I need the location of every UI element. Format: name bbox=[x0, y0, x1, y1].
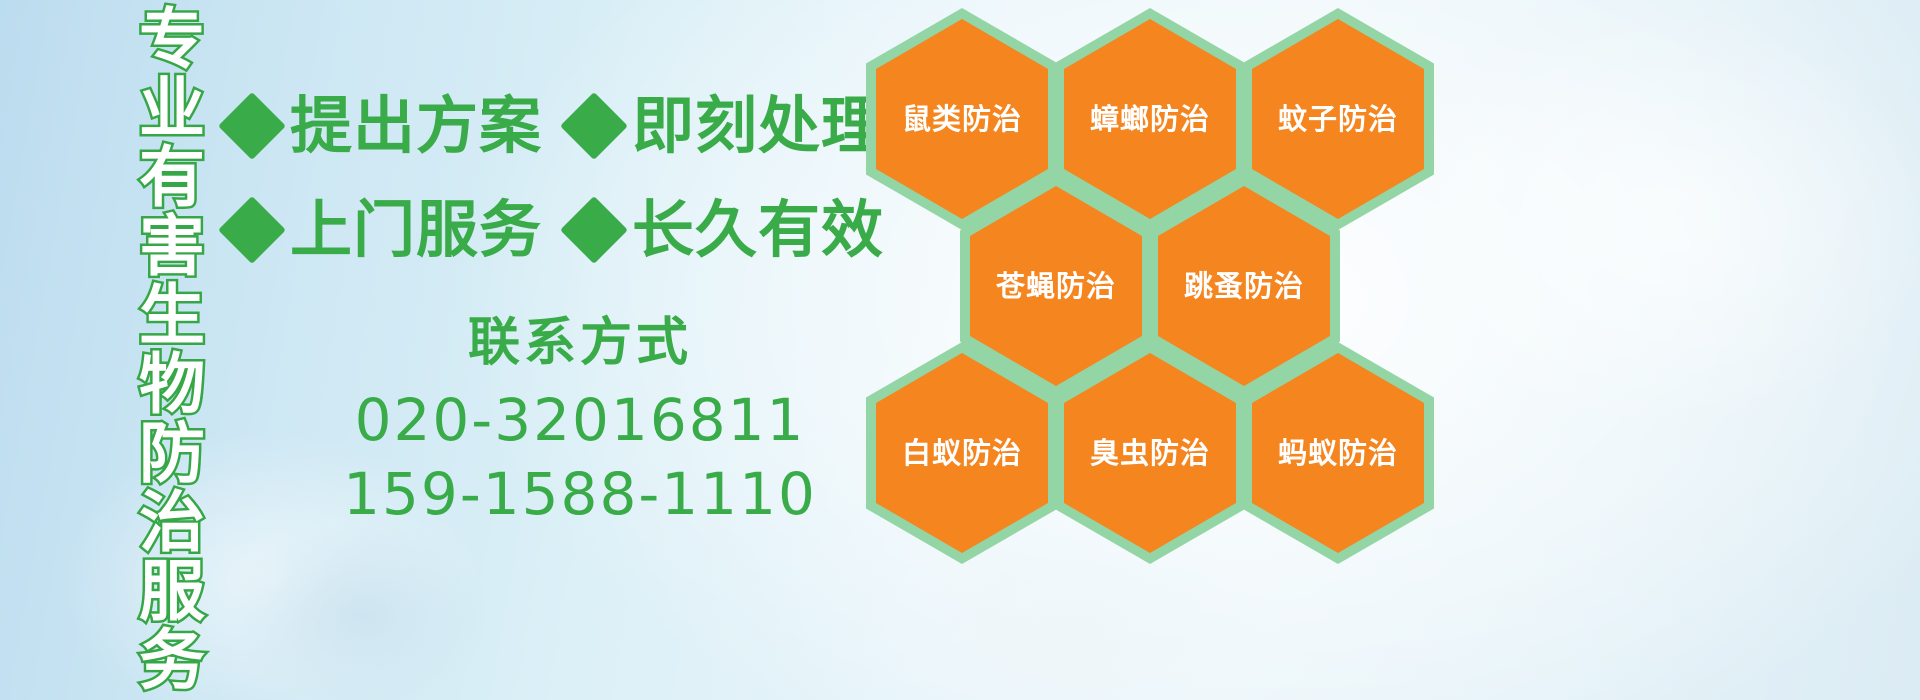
service-label: 苍蝇防治 bbox=[996, 272, 1116, 301]
phone-number-mobile[interactable]: 159-1588-1110 bbox=[300, 457, 860, 531]
feature-list: 提出方案 即刻处理 上门服务 长久有效 bbox=[228, 74, 878, 282]
feature-label: 提出方案 bbox=[290, 95, 542, 157]
service-label: 蚊子防治 bbox=[1278, 105, 1398, 134]
service-honeycomb: 鼠类防治 蟑螂防治 蚊子防治 苍蝇防治 跳蚤防治 bbox=[860, 0, 1500, 580]
feature-label: 即刻处理 bbox=[632, 95, 884, 157]
service-label: 蚂蚁防治 bbox=[1278, 439, 1398, 468]
diamond-icon bbox=[560, 92, 628, 160]
diamond-icon bbox=[560, 196, 628, 264]
contact-title: 联系方式 bbox=[300, 316, 860, 371]
diamond-icon bbox=[218, 196, 286, 264]
background-glow-bottom-left bbox=[230, 520, 490, 700]
feature-label: 长久有效 bbox=[632, 199, 884, 261]
diamond-icon bbox=[218, 92, 286, 160]
service-label: 白蚁防治 bbox=[902, 439, 1022, 468]
service-label: 跳蚤防治 bbox=[1184, 272, 1304, 301]
feature-label: 上门服务 bbox=[290, 199, 542, 261]
contact-block: 联系方式 020-32016811 159-1588-1110 bbox=[300, 316, 860, 531]
service-label: 臭虫防治 bbox=[1090, 439, 1210, 468]
service-label: 蟑螂防治 bbox=[1090, 105, 1210, 134]
feature-row: 上门服务 长久有效 bbox=[228, 178, 878, 282]
phone-number-landline[interactable]: 020-32016811 bbox=[300, 383, 860, 457]
service-hex-ant[interactable]: 蚂蚁防治 bbox=[1242, 342, 1434, 564]
feature-row: 提出方案 即刻处理 bbox=[228, 74, 878, 178]
service-label: 鼠类防治 bbox=[902, 105, 1022, 134]
vertical-headline: 专业有害生物防治服务 bbox=[108, 4, 198, 564]
service-hex-bedbug[interactable]: 臭虫防治 bbox=[1054, 342, 1246, 564]
service-hex-termite[interactable]: 白蚁防治 bbox=[866, 342, 1058, 564]
promo-banner: 专业有害生物防治服务 提出方案 即刻处理 上门服务 长久有效 联系方式 020-… bbox=[0, 0, 1920, 700]
